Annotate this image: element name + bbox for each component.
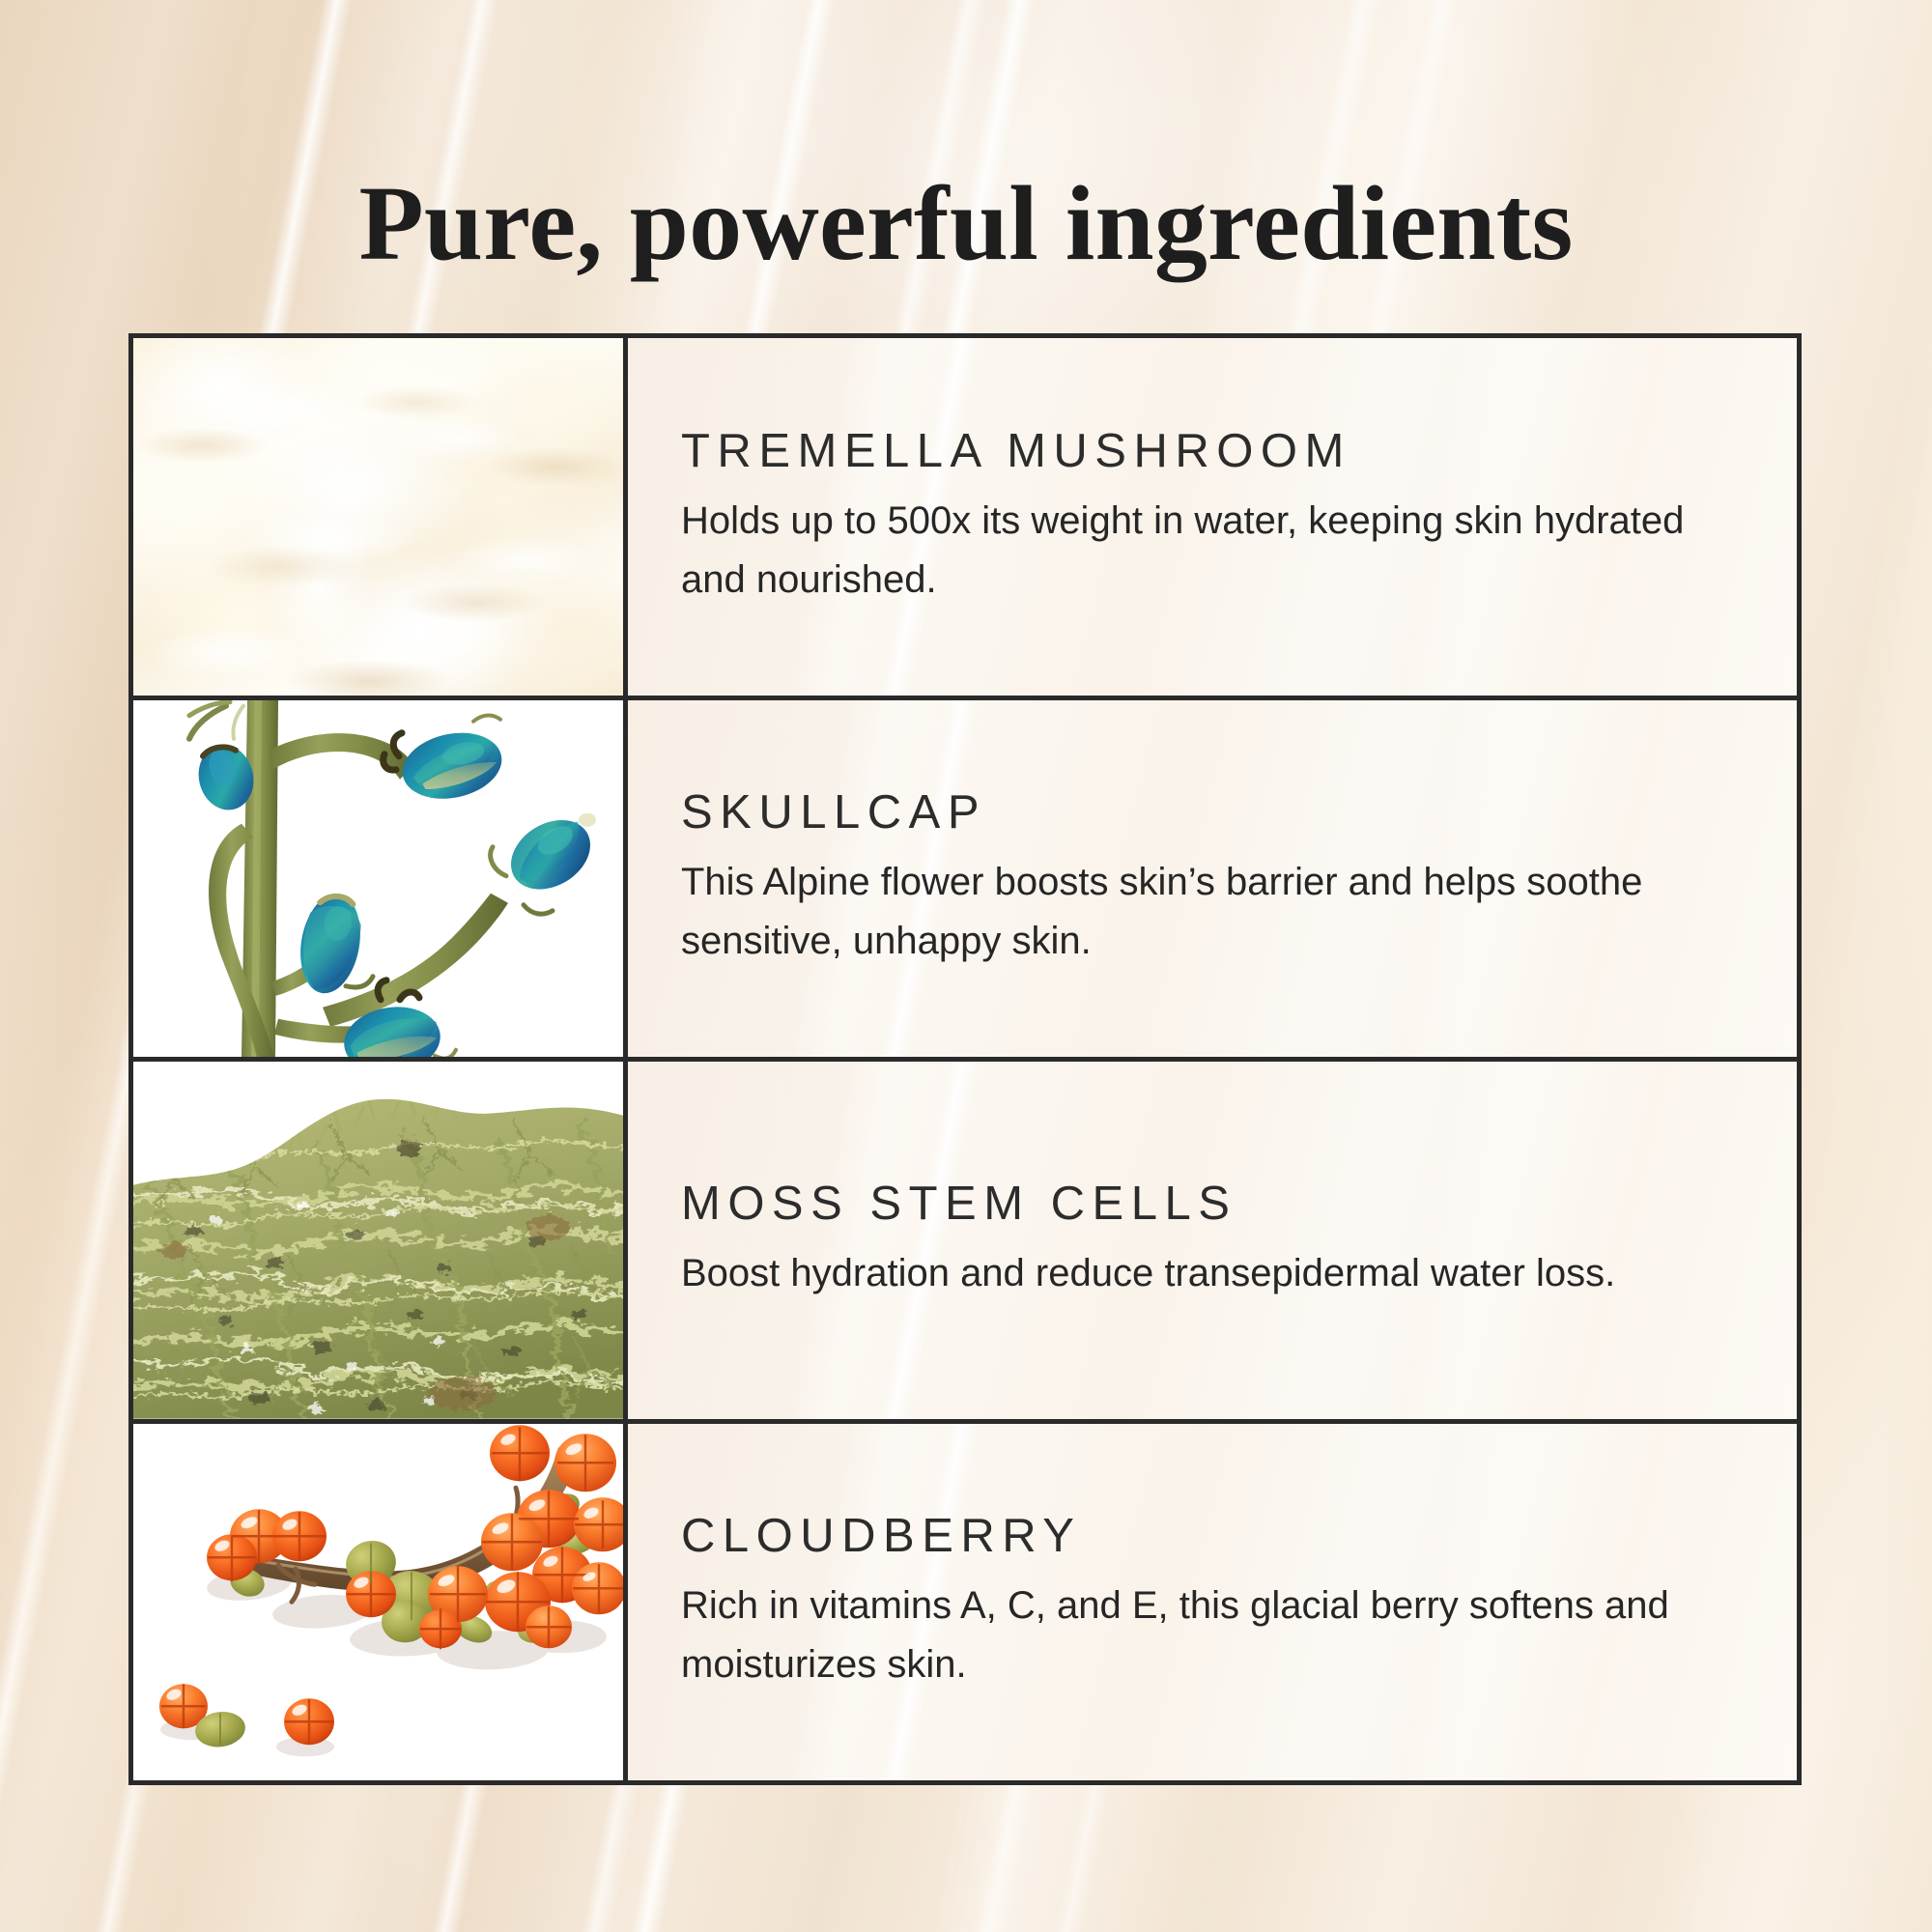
ingredient-name: MOSS STEM CELLS (681, 1177, 1739, 1231)
cloudberry-photo (133, 1424, 623, 1781)
table-row: TREMELLA MUSHROOM Holds up to 500x its w… (133, 338, 1797, 700)
ingredient-name: CLOUDBERRY (681, 1509, 1739, 1563)
ingredient-text-cell: TREMELLA MUSHROOM Holds up to 500x its w… (628, 338, 1797, 696)
table-row: MOSS STEM CELLS Boost hydration and redu… (133, 1062, 1797, 1424)
ingredient-image-cell (133, 338, 628, 696)
moss-stem-cells-photo (133, 1062, 623, 1419)
ingredient-name: TREMELLA MUSHROOM (681, 424, 1739, 478)
skullcap-flower-photo (133, 700, 623, 1058)
tremella-mushroom-photo (133, 338, 623, 696)
ingredients-table: TREMELLA MUSHROOM Holds up to 500x its w… (128, 333, 1802, 1785)
ingredient-description: This Alpine flower boosts skin’s barrier… (681, 853, 1739, 971)
ingredient-image-cell (133, 1062, 628, 1419)
table-row: SKULLCAP This Alpine flower boosts skin’… (133, 700, 1797, 1063)
page-title: Pure, powerful ingredients (0, 166, 1932, 281)
ingredient-image-cell (133, 700, 628, 1058)
ingredient-text-cell: MOSS STEM CELLS Boost hydration and redu… (628, 1062, 1797, 1419)
ingredient-description: Holds up to 500x its weight in water, ke… (681, 492, 1739, 610)
ingredient-description: Rich in vitamins A, C, and E, this glaci… (681, 1577, 1739, 1694)
ingredient-description: Boost hydration and reduce transepiderma… (681, 1244, 1739, 1303)
ingredient-image-cell (133, 1424, 628, 1781)
ingredient-name: SKULLCAP (681, 785, 1739, 839)
ingredients-page: Pure, powerful ingredients TREMELLA MUSH… (0, 0, 1932, 1932)
ingredient-text-cell: CLOUDBERRY Rich in vitamins A, C, and E,… (628, 1424, 1797, 1781)
ingredient-text-cell: SKULLCAP This Alpine flower boosts skin’… (628, 700, 1797, 1058)
table-row: CLOUDBERRY Rich in vitamins A, C, and E,… (133, 1424, 1797, 1781)
